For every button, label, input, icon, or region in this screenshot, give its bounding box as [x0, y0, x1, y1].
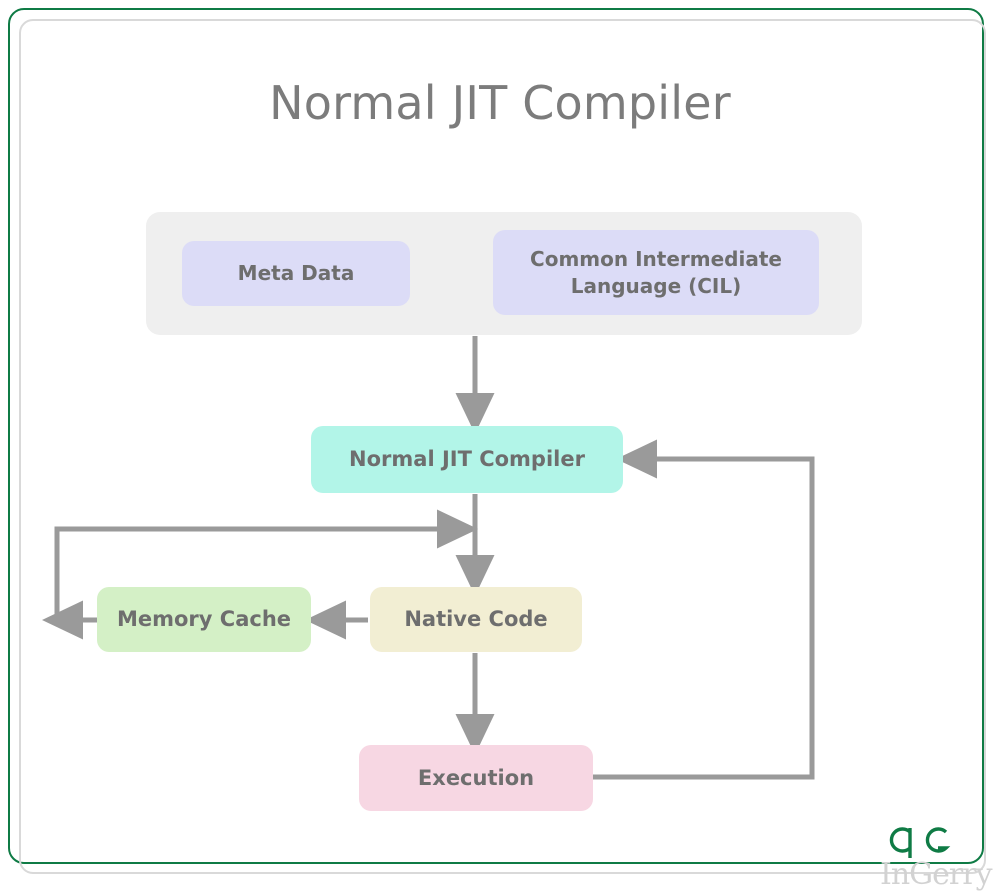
- node-native-code[interactable]: Native Code: [370, 587, 582, 652]
- node-memory-cache[interactable]: Memory Cache: [97, 587, 311, 652]
- node-meta-data-label: Meta Data: [238, 260, 355, 287]
- node-execution[interactable]: Execution: [359, 745, 593, 811]
- page-title: Normal JIT Compiler: [0, 76, 1000, 130]
- node-cil-label-line1: Common Intermediate: [530, 247, 782, 271]
- node-jit-label: Normal JIT Compiler: [349, 445, 585, 473]
- node-meta-data[interactable]: Meta Data: [182, 241, 410, 306]
- diagram-canvas: Normal JIT Compiler: [0, 0, 1000, 896]
- node-cil-label: Common Intermediate Language (CIL): [530, 246, 782, 300]
- geeksforgeeks-logo: [884, 818, 958, 864]
- node-memory-cache-label: Memory Cache: [117, 605, 291, 633]
- node-cil-label-line2: Language (CIL): [571, 274, 742, 298]
- node-native-code-label: Native Code: [404, 605, 547, 633]
- node-execution-label: Execution: [418, 764, 534, 792]
- node-common-intermediate-language[interactable]: Common Intermediate Language (CIL): [493, 230, 819, 315]
- node-normal-jit-compiler[interactable]: Normal JIT Compiler: [311, 426, 623, 493]
